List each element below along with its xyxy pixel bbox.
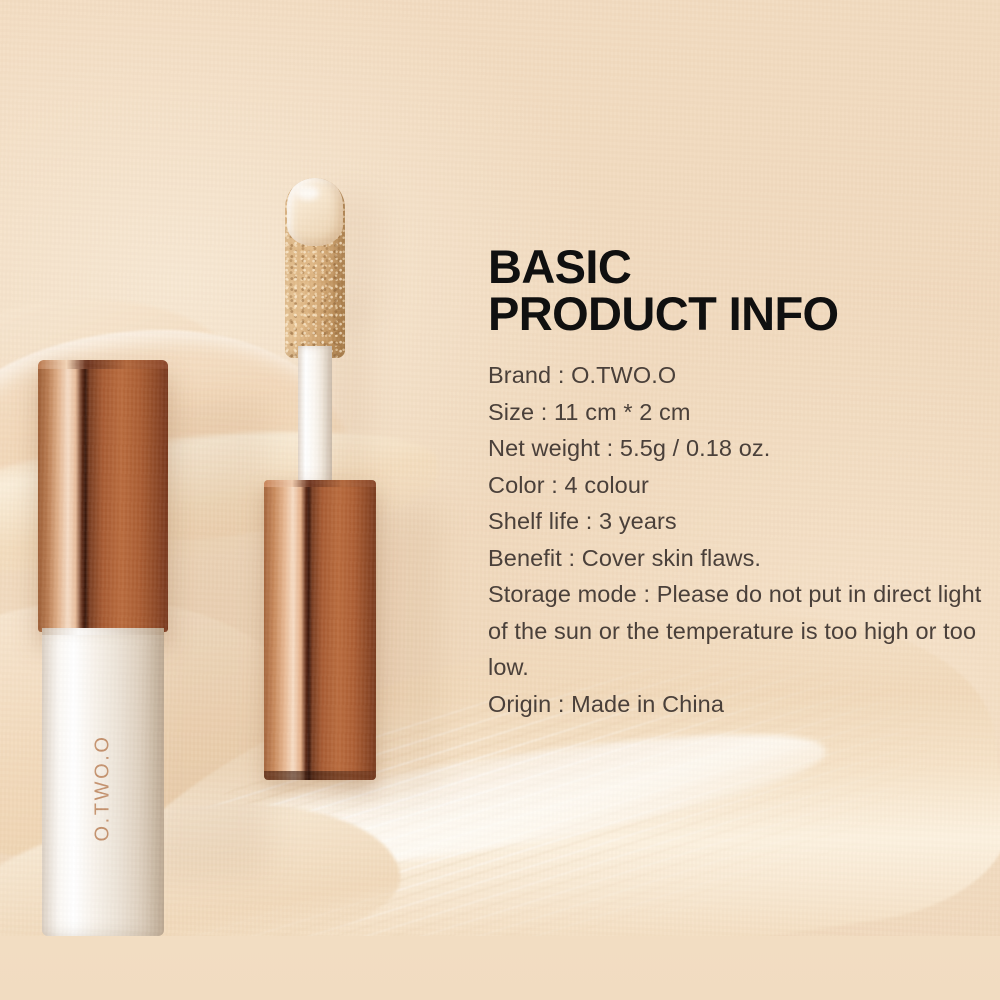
wand-cap <box>264 480 376 780</box>
spec-row-storage-mode: Storage mode : Please do not put in dire… <box>488 576 988 686</box>
cream-swatch-highlight <box>127 706 832 904</box>
spec-row-brand: Brand : O.TWO.O <box>488 357 988 394</box>
spec-row-benefit: Benefit : Cover skin flaws. <box>488 540 988 577</box>
wand-cap-bottom-edge <box>264 771 376 780</box>
applicator-cream-product <box>287 178 343 246</box>
tube-body: O.TWO.O <box>42 628 164 936</box>
spec-row-size: Size : 11 cm * 2 cm <box>488 394 988 431</box>
bottom-band <box>0 936 1000 1000</box>
page-title-line-1: BASIC <box>488 243 988 290</box>
spec-row-net-weight: Net weight : 5.5g / 0.18 oz. <box>488 430 988 467</box>
spec-row-shelf-life: Shelf life : 3 years <box>488 503 988 540</box>
wand-cap-top-edge <box>264 480 376 487</box>
info-panel: BASIC PRODUCT INFO Brand : O.TWO.O Size … <box>488 243 988 722</box>
tube-cap-top-edge <box>38 360 168 369</box>
product-info-banner: O.TWO.O BASIC PRODUCT INFO Brand : O.TWO… <box>0 0 1000 1000</box>
tube-body-seam <box>42 628 164 635</box>
concealer-wand <box>250 170 400 810</box>
tube-cap <box>38 360 168 632</box>
spec-row-color: Color : 4 colour <box>488 467 988 504</box>
brand-logo-on-tube: O.TWO.O <box>92 735 115 842</box>
spec-list: Brand : O.TWO.O Size : 11 cm * 2 cm Net … <box>488 357 988 722</box>
page-title: BASIC PRODUCT INFO <box>488 243 988 337</box>
spec-row-origin: Origin : Made in China <box>488 686 988 723</box>
page-title-line-2: PRODUCT INFO <box>488 290 988 337</box>
concealer-tube: O.TWO.O <box>28 360 174 936</box>
applicator-tip <box>285 178 345 358</box>
